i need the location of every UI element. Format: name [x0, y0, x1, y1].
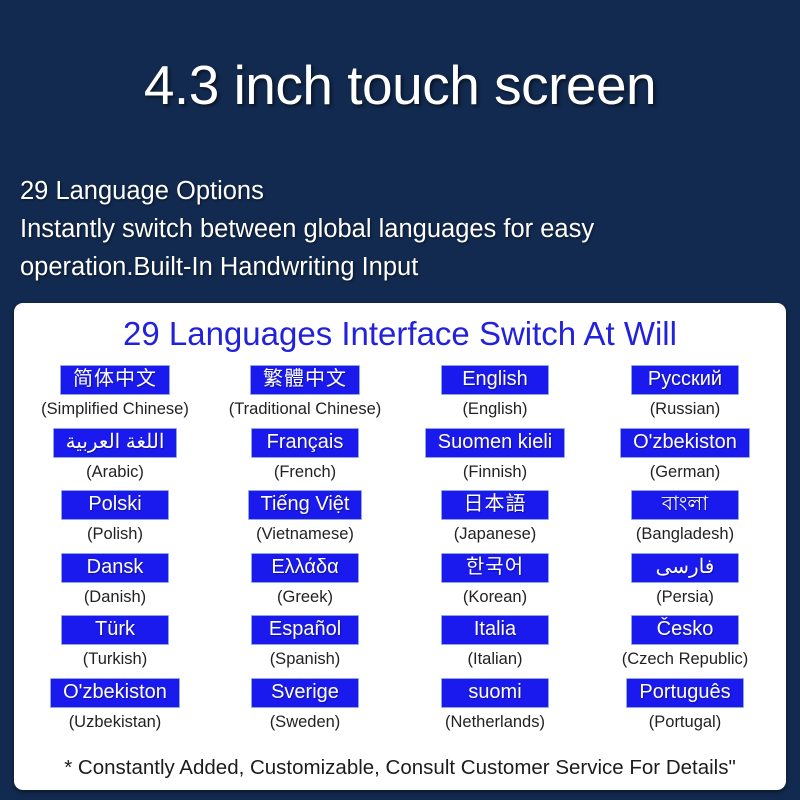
- hero-subtitle-line-3: operation.Built-In Handwriting Input: [20, 248, 760, 286]
- language-chip[interactable]: O'zbekiston: [50, 678, 180, 708]
- language-chip[interactable]: Español: [251, 615, 359, 645]
- language-chip[interactable]: O'zbekiston: [620, 428, 750, 458]
- language-caption: (Traditional Chinese): [229, 400, 382, 419]
- hero-subtitle-block: 29 Language Options Instantly switch bet…: [20, 172, 760, 286]
- language-cell: Français(French): [210, 428, 400, 491]
- language-caption: (Polish): [87, 525, 143, 544]
- hero-subtitle-line-1: 29 Language Options: [20, 172, 760, 210]
- language-chip[interactable]: اللغة العربية: [53, 428, 178, 458]
- language-cell: اللغة العربية(Arabic): [20, 428, 210, 491]
- language-caption: (Vietnamese): [256, 525, 354, 544]
- language-cell: বাংলা(Bangladesh): [590, 490, 780, 553]
- language-cell: فارسی(Persia): [590, 553, 780, 616]
- language-cell: Türk(Turkish): [20, 615, 210, 678]
- language-panel-footnote: * Constantly Added, Customizable, Consul…: [14, 756, 786, 780]
- language-chip[interactable]: 日本語: [441, 490, 549, 520]
- language-chip[interactable]: English: [441, 365, 549, 395]
- language-caption: (Arabic): [86, 463, 144, 482]
- language-caption: (Japanese): [454, 525, 537, 544]
- hero-subtitle-line-2: Instantly switch between global language…: [20, 210, 760, 248]
- language-cell: suomi(Netherlands): [400, 678, 590, 741]
- language-cell: English(English): [400, 365, 590, 428]
- language-caption: (Spanish): [270, 650, 341, 669]
- language-chip[interactable]: Türk: [61, 615, 169, 645]
- language-cell: O'zbekiston(Uzbekistan): [20, 678, 210, 741]
- language-cell: 简体中文(Simplified Chinese): [20, 365, 210, 428]
- language-cell: 日本語(Japanese): [400, 490, 590, 553]
- language-cell: Português(Portugal): [590, 678, 780, 741]
- language-cell: Italia(Italian): [400, 615, 590, 678]
- language-cell: Español(Spanish): [210, 615, 400, 678]
- language-cell: Ελλάδα(Greek): [210, 553, 400, 616]
- language-caption: (Korean): [463, 588, 527, 607]
- language-chip[interactable]: Sverige: [251, 678, 359, 708]
- language-caption: (Russian): [650, 400, 721, 419]
- language-chip[interactable]: Česko: [631, 615, 739, 645]
- language-chip[interactable]: فارسی: [631, 553, 739, 583]
- language-chip[interactable]: 繁體中文: [250, 365, 360, 395]
- language-caption: (Bangladesh): [636, 525, 734, 544]
- language-cell: Česko(Czech Republic): [590, 615, 780, 678]
- language-cell: Tiếng Việt(Vietnamese): [210, 490, 400, 553]
- language-caption: (Italian): [467, 650, 522, 669]
- language-caption: (Sweden): [270, 713, 341, 732]
- language-chip[interactable]: Français: [251, 428, 359, 458]
- language-caption: (Portugal): [649, 713, 721, 732]
- language-panel-title: 29 Languages Interface Switch At Will: [14, 315, 786, 353]
- language-caption: (Finnish): [463, 463, 527, 482]
- language-caption: (English): [462, 400, 527, 419]
- language-chip[interactable]: suomi: [441, 678, 549, 708]
- language-cell: Suomen kieli(Finnish): [400, 428, 590, 491]
- language-chip[interactable]: 简体中文: [60, 365, 170, 395]
- language-chip[interactable]: Suomen kieli: [425, 428, 566, 458]
- language-cell: Русский(Russian): [590, 365, 780, 428]
- language-caption: (Danish): [84, 588, 146, 607]
- language-grid: 简体中文(Simplified Chinese)繁體中文(Traditional…: [20, 365, 780, 740]
- language-caption: (Persia): [656, 588, 714, 607]
- language-chip[interactable]: Italia: [441, 615, 549, 645]
- language-cell: O'zbekiston(German): [590, 428, 780, 491]
- language-caption: (Simplified Chinese): [41, 400, 189, 419]
- language-chip[interactable]: Русский: [631, 365, 739, 395]
- language-cell: Sverige(Sweden): [210, 678, 400, 741]
- language-caption: (French): [274, 463, 336, 482]
- language-chip[interactable]: Tiếng Việt: [248, 490, 363, 520]
- language-chip[interactable]: বাংলা: [631, 490, 739, 520]
- language-caption: (Greek): [277, 588, 333, 607]
- language-chip[interactable]: Dansk: [61, 553, 169, 583]
- language-panel: 29 Languages Interface Switch At Will 简体…: [14, 303, 786, 790]
- language-chip[interactable]: 한국어: [441, 553, 549, 583]
- language-chip[interactable]: Português: [626, 678, 743, 708]
- language-chip[interactable]: Ελλάδα: [251, 553, 359, 583]
- language-caption: (Czech Republic): [622, 650, 749, 669]
- language-cell: Polski(Polish): [20, 490, 210, 553]
- language-caption: (Uzbekistan): [69, 713, 162, 732]
- language-caption: (Netherlands): [445, 713, 545, 732]
- language-cell: 繁體中文(Traditional Chinese): [210, 365, 400, 428]
- language-caption: (Turkish): [83, 650, 147, 669]
- language-cell: 한국어(Korean): [400, 553, 590, 616]
- page-title: 4.3 inch touch screen: [0, 58, 800, 113]
- language-caption: (German): [650, 463, 721, 482]
- language-chip[interactable]: Polski: [61, 490, 169, 520]
- language-cell: Dansk(Danish): [20, 553, 210, 616]
